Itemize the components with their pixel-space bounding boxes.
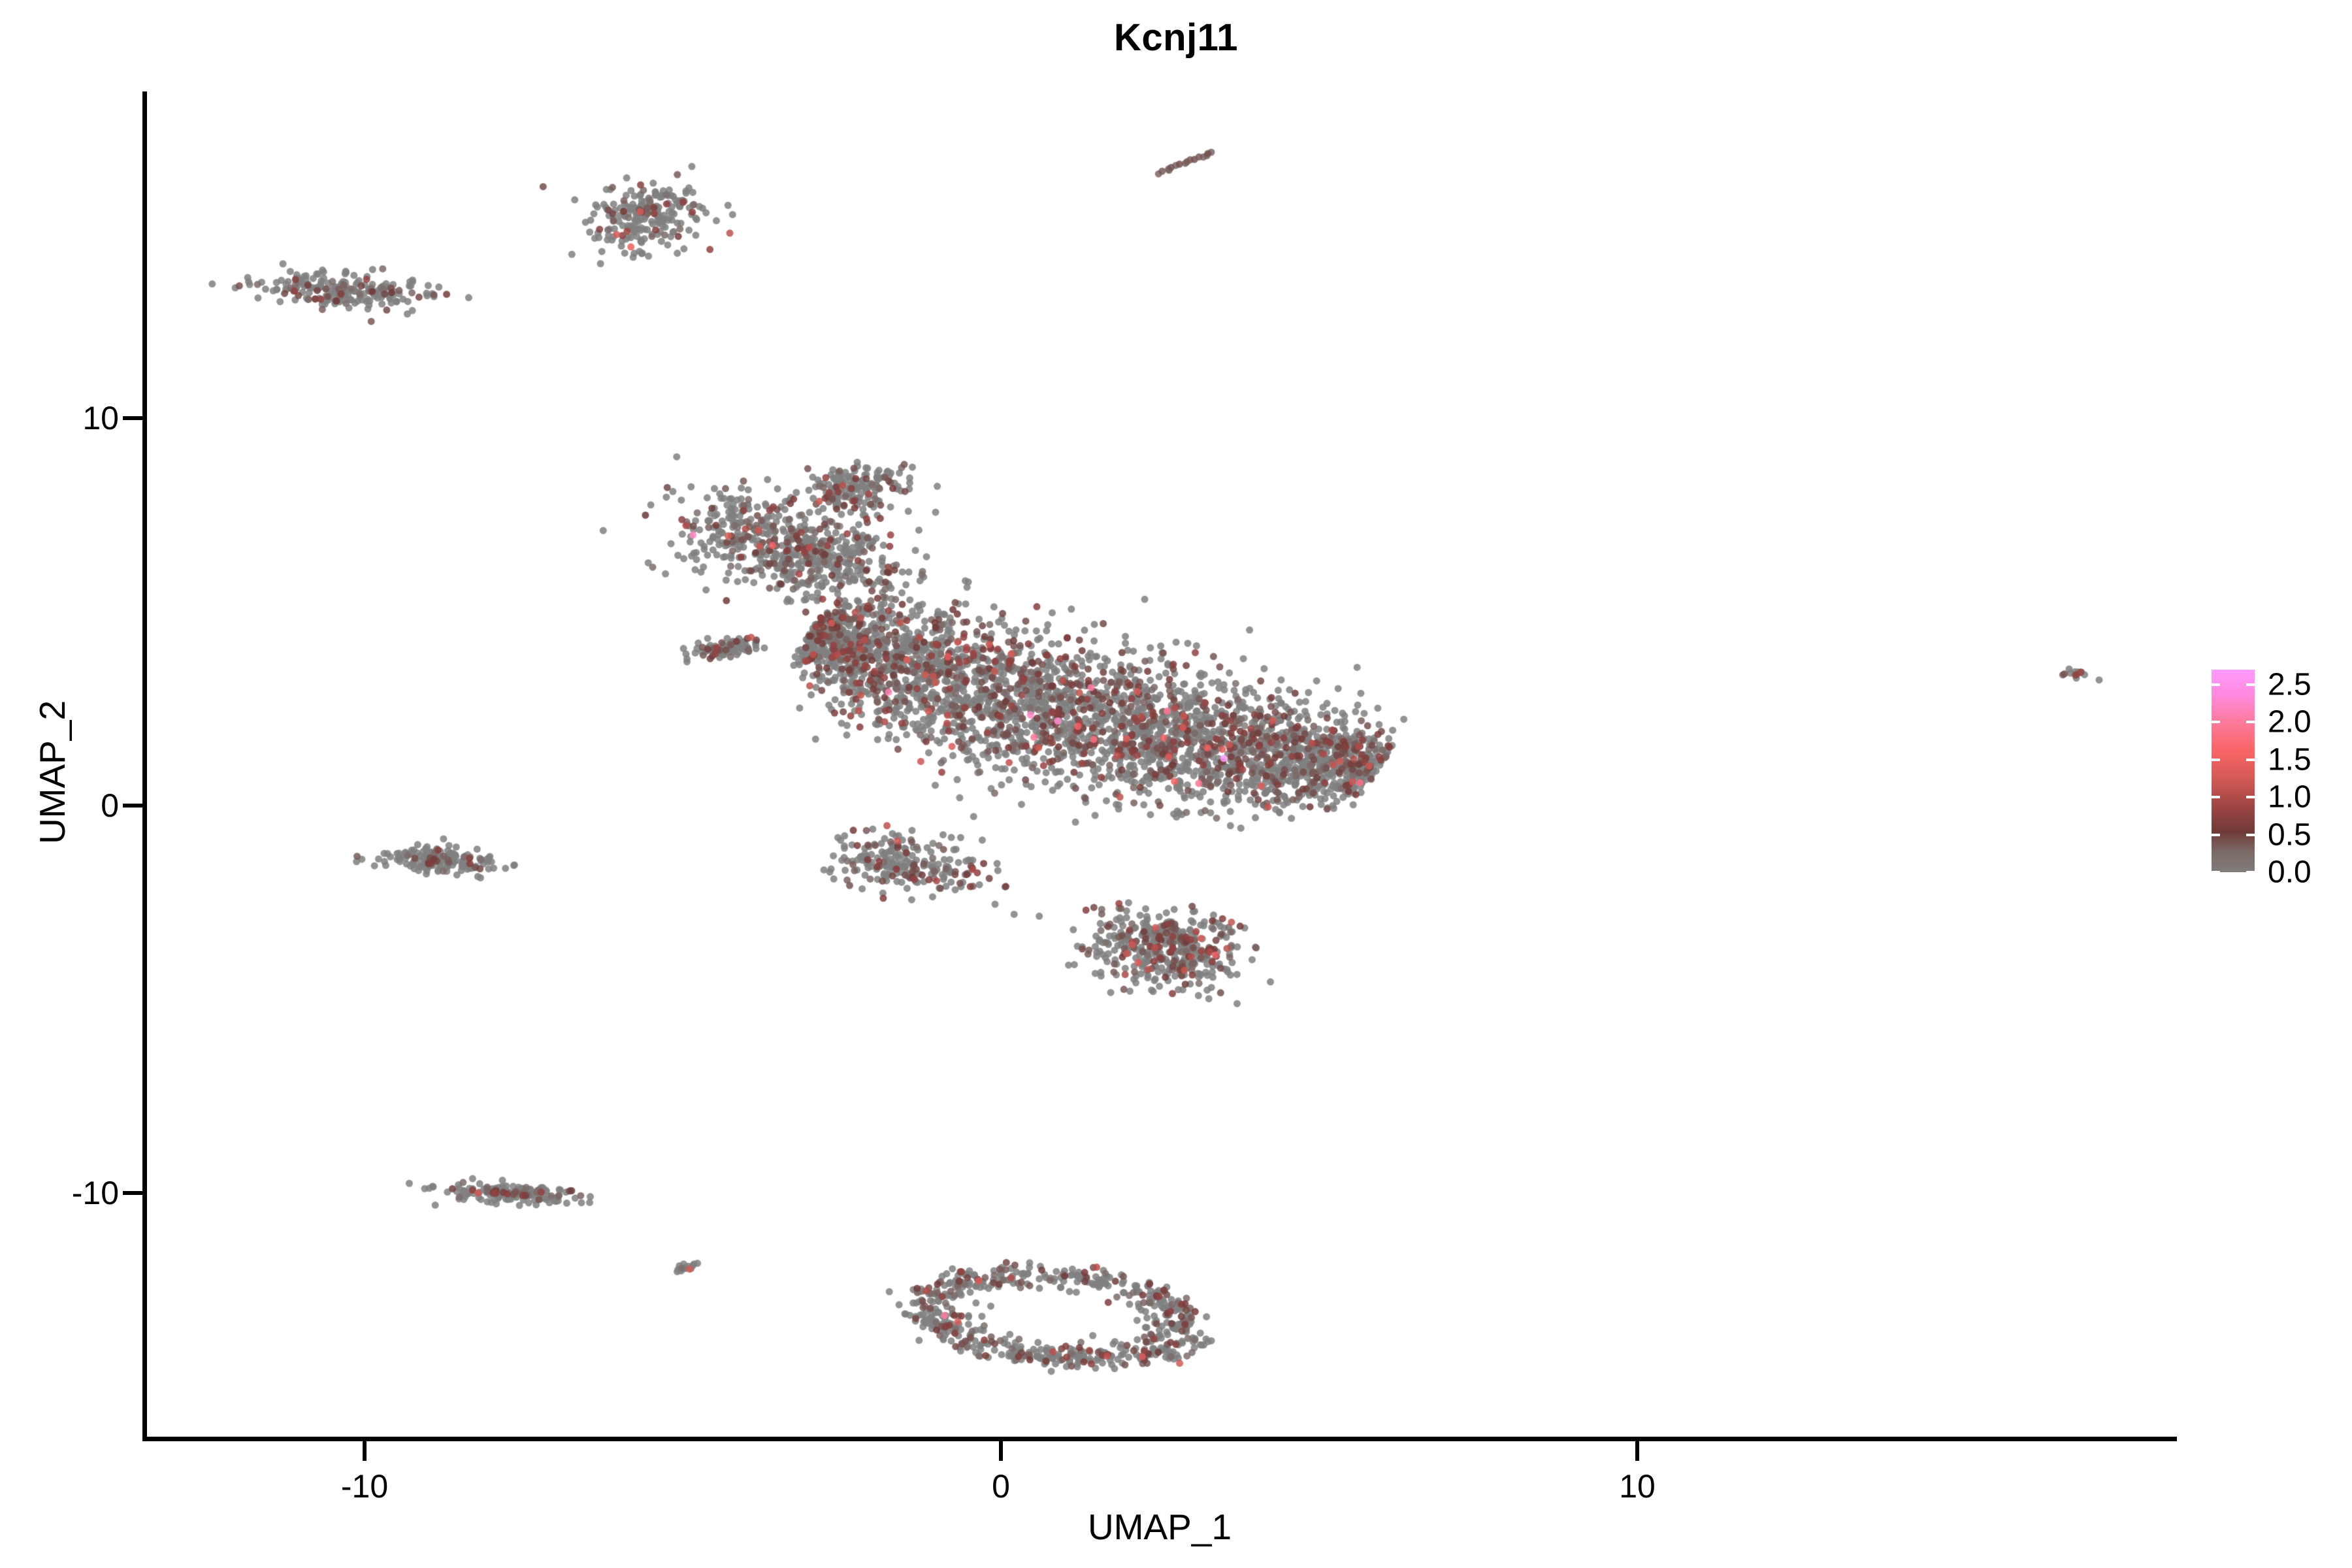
x-tick-label: -10 [267, 1467, 463, 1505]
colorbar-tick [2246, 796, 2255, 798]
y-tick-mark [123, 1191, 143, 1195]
colorbar-tick-label: 0.5 [2268, 817, 2352, 853]
colorbar-tick [2246, 759, 2255, 761]
x-tick-label: 10 [1539, 1467, 1735, 1505]
colorbar-tick-label: 2.5 [2268, 666, 2352, 702]
plot-panel [147, 91, 2176, 1437]
colorbar-tick [2212, 759, 2220, 761]
colorbar-tick [2212, 683, 2220, 686]
y-tick-mark [123, 416, 143, 420]
colorbar-tick [2246, 871, 2255, 874]
colorbar-gradient [2212, 670, 2255, 872]
y-tick-mark [123, 804, 143, 808]
colorbar-tick [2212, 796, 2220, 798]
x-axis-line [142, 1437, 2177, 1441]
y-axis-title: UMAP_2 [31, 119, 73, 1426]
colorbar-tick-label: 1.5 [2268, 742, 2352, 777]
colorbar-legend: 0.00.51.01.52.02.5 [2212, 670, 2342, 879]
colorbar-tick [2246, 834, 2255, 836]
x-tick-mark [363, 1441, 367, 1461]
colorbar-tick [2212, 721, 2220, 723]
umap-feature-plot: Kcnj11 10 0 -10 -10 0 10 UMAP_1 UMAP_2 0… [0, 0, 2352, 1568]
scatter-points-canvas [147, 91, 2176, 1437]
colorbar-tick [2246, 721, 2255, 723]
y-axis-line [142, 91, 147, 1441]
colorbar-tick [2212, 834, 2220, 836]
colorbar-tick-label: 0.0 [2268, 855, 2352, 890]
page-title: Kcnj11 [0, 16, 2352, 59]
colorbar-tick-label: 1.0 [2268, 779, 2352, 815]
colorbar-tick-label: 2.0 [2268, 704, 2352, 740]
colorbar-tick [2246, 683, 2255, 686]
x-tick-mark [1635, 1441, 1639, 1461]
x-tick-label: 0 [903, 1467, 1099, 1505]
x-axis-title: UMAP_1 [142, 1506, 2177, 1548]
colorbar-tick [2212, 871, 2220, 874]
x-tick-mark [999, 1441, 1003, 1461]
